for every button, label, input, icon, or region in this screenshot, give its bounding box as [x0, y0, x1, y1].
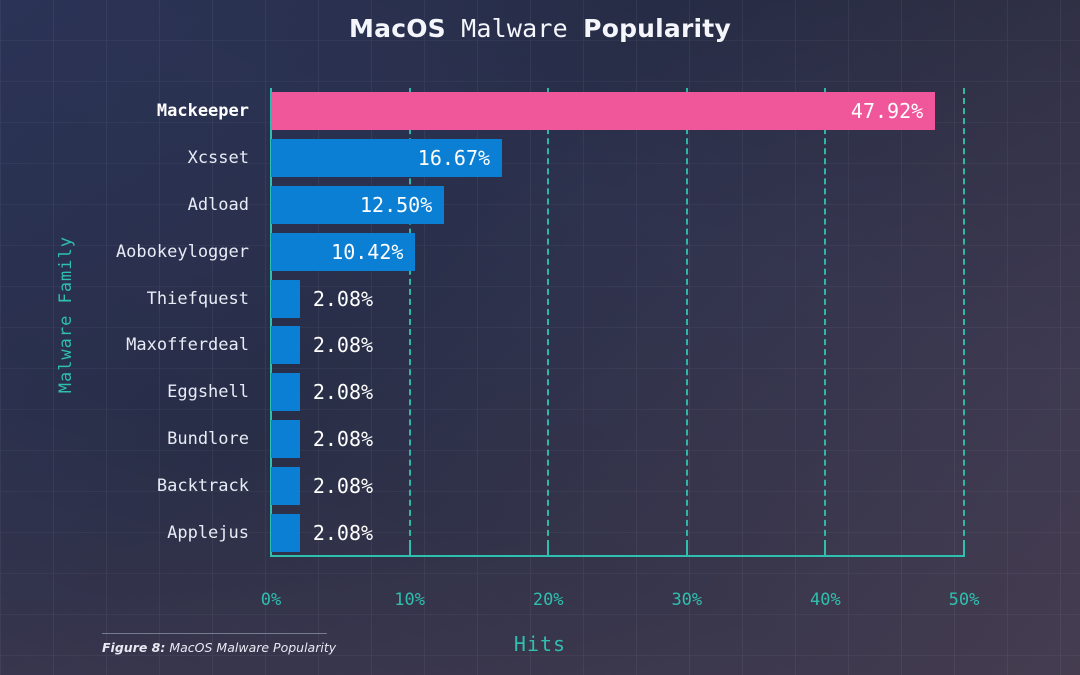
y-category-label-applejus[interactable]: Applejus: [19, 523, 249, 543]
figure-caption-block: Figure 8: MacOS Malware Popularity: [102, 633, 432, 655]
bar-row[interactable]: 47.92%: [271, 92, 964, 130]
x-tick-label-10%: 10%: [394, 590, 425, 610]
bar-row[interactable]: 2.08%: [271, 373, 964, 411]
bar-row[interactable]: 16.67%: [271, 139, 964, 177]
chart-title-part-1: MacOS: [349, 14, 446, 43]
chart-canvas: MacOS Malware Popularity Malware Family …: [0, 0, 1080, 675]
figure-caption-text: MacOS Malware Popularity: [169, 640, 336, 655]
bar-row[interactable]: 12.50%: [271, 186, 964, 224]
bar-value-eggshell: 2.08%: [313, 380, 373, 404]
y-category-label-thiefquest[interactable]: Thiefquest: [19, 289, 249, 309]
y-category-label-eggshell[interactable]: Eggshell: [19, 382, 249, 402]
bar-value-backtrack: 2.08%: [313, 474, 373, 498]
bar-mackeeper[interactable]: [271, 92, 935, 130]
y-category-label-maxofferdeal[interactable]: Maxofferdeal: [19, 335, 249, 355]
y-category-label-adload[interactable]: Adload: [19, 195, 249, 215]
bar-value-aobokeylogger: 10.42%: [331, 240, 403, 264]
y-category-label-aobokeylogger[interactable]: Aobokeylogger: [19, 242, 249, 262]
bar-value-applejus: 2.08%: [313, 521, 373, 545]
bar-bundlore[interactable]: [271, 420, 300, 458]
bar-value-thiefquest: 2.08%: [313, 287, 373, 311]
y-category-label-backtrack[interactable]: Backtrack: [19, 476, 249, 496]
y-category-label-mackeeper[interactable]: Mackeeper: [19, 101, 249, 121]
bar-row[interactable]: 2.08%: [271, 280, 964, 318]
chart-title-part-3: Popularity: [583, 14, 731, 43]
figure-number: Figure 8:: [102, 640, 165, 655]
bar-maxofferdeal[interactable]: [271, 326, 300, 364]
bar-value-bundlore: 2.08%: [313, 427, 373, 451]
bar-backtrack[interactable]: [271, 467, 300, 505]
x-tick-label-0%: 0%: [261, 590, 281, 610]
bar-row[interactable]: 2.08%: [271, 420, 964, 458]
bar-row[interactable]: 2.08%: [271, 514, 964, 552]
caption-divider: [102, 633, 327, 634]
bar-applejus[interactable]: [271, 514, 300, 552]
chart-title: MacOS Malware Popularity: [0, 14, 1080, 43]
bar-value-mackeeper: 47.92%: [851, 99, 923, 123]
bar-thiefquest[interactable]: [271, 280, 300, 318]
x-tick-label-50%: 50%: [949, 590, 980, 610]
x-axis-line: [270, 555, 965, 557]
bar-eggshell[interactable]: [271, 373, 300, 411]
bar-value-xcsset: 16.67%: [418, 146, 490, 170]
y-category-label-xcsset[interactable]: Xcsset: [19, 148, 249, 168]
bar-row[interactable]: 2.08%: [271, 326, 964, 364]
x-tick-label-40%: 40%: [810, 590, 841, 610]
bar-row[interactable]: 2.08%: [271, 467, 964, 505]
figure-caption: Figure 8: MacOS Malware Popularity: [102, 640, 432, 655]
bar-row[interactable]: 10.42%: [271, 233, 964, 271]
x-tick-label-20%: 20%: [533, 590, 564, 610]
plot-area: 47.92%16.67%12.50%10.42%2.08%2.08%2.08%2…: [271, 88, 964, 556]
chart-title-part-2: Malware: [461, 14, 568, 43]
x-tick-label-30%: 30%: [671, 590, 702, 610]
bar-value-maxofferdeal: 2.08%: [313, 333, 373, 357]
y-category-label-bundlore[interactable]: Bundlore: [19, 429, 249, 449]
bar-value-adload: 12.50%: [360, 193, 432, 217]
